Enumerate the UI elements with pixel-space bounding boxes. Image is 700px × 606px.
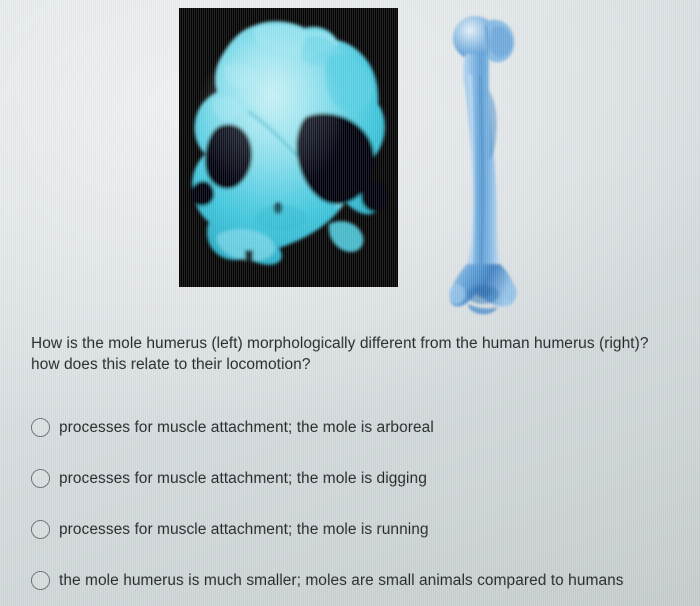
answer-option-a[interactable]: processes for muscle attachment; the mol…: [31, 402, 691, 453]
answer-options-list: processes for muscle attachment; the mol…: [31, 402, 691, 606]
radio-button-icon[interactable]: [31, 469, 50, 488]
mole-humerus-figure: [179, 8, 398, 287]
answer-option-b[interactable]: processes for muscle attachment; the mol…: [31, 453, 691, 504]
answer-option-label: processes for muscle attachment; the mol…: [59, 520, 429, 540]
figure-row: [0, 0, 700, 320]
radio-button-icon[interactable]: [31, 571, 50, 590]
answer-option-label: processes for muscle attachment; the mol…: [59, 469, 427, 489]
question-text: How is the mole humerus (left) morpholog…: [31, 333, 676, 375]
radio-button-icon[interactable]: [31, 418, 50, 437]
answer-option-label: processes for muscle attachment; the mol…: [59, 418, 434, 438]
answer-option-label: the mole humerus is much smaller; moles …: [59, 571, 624, 591]
radio-button-icon[interactable]: [31, 520, 50, 539]
mole-humerus-image: [179, 8, 398, 287]
answer-option-d[interactable]: the mole humerus is much smaller; moles …: [31, 555, 691, 606]
answer-option-c[interactable]: processes for muscle attachment; the mol…: [31, 504, 691, 555]
question-line-1: How is the mole humerus (left) morpholog…: [31, 335, 595, 352]
human-humerus-figure: [440, 6, 544, 318]
